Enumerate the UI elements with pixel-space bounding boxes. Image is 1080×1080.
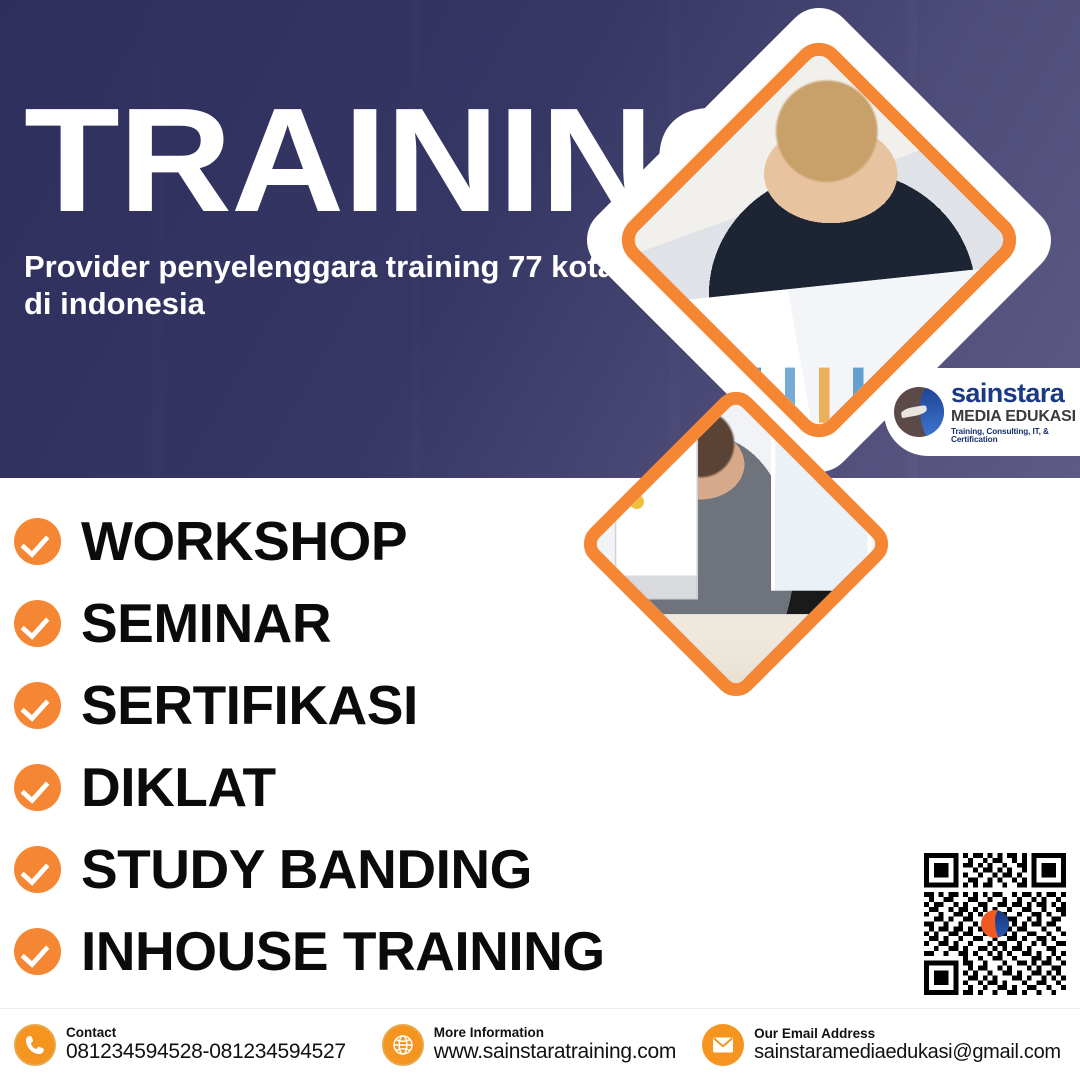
check-circle-icon [14, 518, 61, 565]
poster-canvas: TRAINING Provider penyelenggara training… [0, 0, 1080, 1080]
footer-value: www.sainstaratraining.com [434, 1040, 676, 1064]
footer-contact-email-text: Our Email Address sainstaramediaedukasi@… [754, 1026, 1061, 1064]
footer-value: 081234594528-081234594527 [66, 1040, 346, 1064]
check-circle-icon [14, 600, 61, 647]
footer-label: Contact [66, 1025, 346, 1040]
list-item-label: STUDY BANDING [81, 842, 532, 897]
sainstara-emblem-icon [894, 387, 944, 437]
list-item: WORKSHOP [14, 500, 694, 582]
check-circle-icon [14, 928, 61, 975]
list-item-label: DIKLAT [81, 760, 276, 815]
footer-label: Our Email Address [754, 1026, 1061, 1041]
check-circle-icon [14, 682, 61, 729]
envelope-glyph [702, 1024, 744, 1066]
list-item-label: SEMINAR [81, 596, 331, 651]
list-item: SEMINAR [14, 582, 694, 664]
brand-services: Training, Consulting, IT, & Certificatio… [951, 428, 1080, 444]
list-item: STUDY BANDING [14, 828, 694, 910]
envelope-icon [702, 1024, 744, 1066]
services-list: WORKSHOP SEMINAR SERTIFIKASI DIKLAT STUD… [14, 500, 694, 992]
footer-contact-website[interactable]: More Information www.sainstaratraining.c… [382, 1024, 676, 1066]
list-item-label: WORKSHOP [81, 514, 407, 569]
brand-logo-text: sainstara MEDIA EDUKASI Training, Consul… [951, 380, 1080, 444]
list-item-label: SERTIFIKASI [81, 678, 418, 733]
brand-logo: sainstara MEDIA EDUKASI Training, Consul… [884, 368, 1080, 456]
phone-glyph [16, 1026, 54, 1064]
footer-contact-email[interactable]: Our Email Address sainstaramediaedukasi@… [702, 1024, 1061, 1066]
contact-footer: Contact 081234594528-081234594527 More I [0, 1008, 1080, 1080]
footer-value: sainstaramediaedukasi@gmail.com [754, 1041, 1061, 1063]
footer-contact-phone-text: Contact 081234594528-081234594527 [66, 1025, 346, 1064]
phone-icon [14, 1024, 56, 1066]
qr-center-logo-icon [981, 910, 1009, 938]
list-item: SERTIFIKASI [14, 664, 694, 746]
brand-name: sainstara [951, 380, 1080, 407]
qr-code[interactable] [924, 853, 1066, 995]
brand-tagline: MEDIA EDUKASI [951, 409, 1080, 425]
list-item-label: INHOUSE TRAINING [81, 924, 605, 979]
hero-subtitle: Provider penyelenggara training 77 kota … [24, 248, 644, 322]
list-item: DIKLAT [14, 746, 694, 828]
list-item: INHOUSE TRAINING [14, 910, 694, 992]
check-circle-icon [14, 846, 61, 893]
globe-glyph [384, 1026, 422, 1064]
hero-text-block: TRAINING Provider penyelenggara training… [24, 96, 684, 323]
check-circle-icon [14, 764, 61, 811]
footer-contact-website-text: More Information www.sainstaratraining.c… [434, 1025, 676, 1064]
globe-icon [382, 1024, 424, 1066]
footer-label: More Information [434, 1025, 676, 1040]
footer-contact-phone[interactable]: Contact 081234594528-081234594527 [14, 1024, 346, 1066]
